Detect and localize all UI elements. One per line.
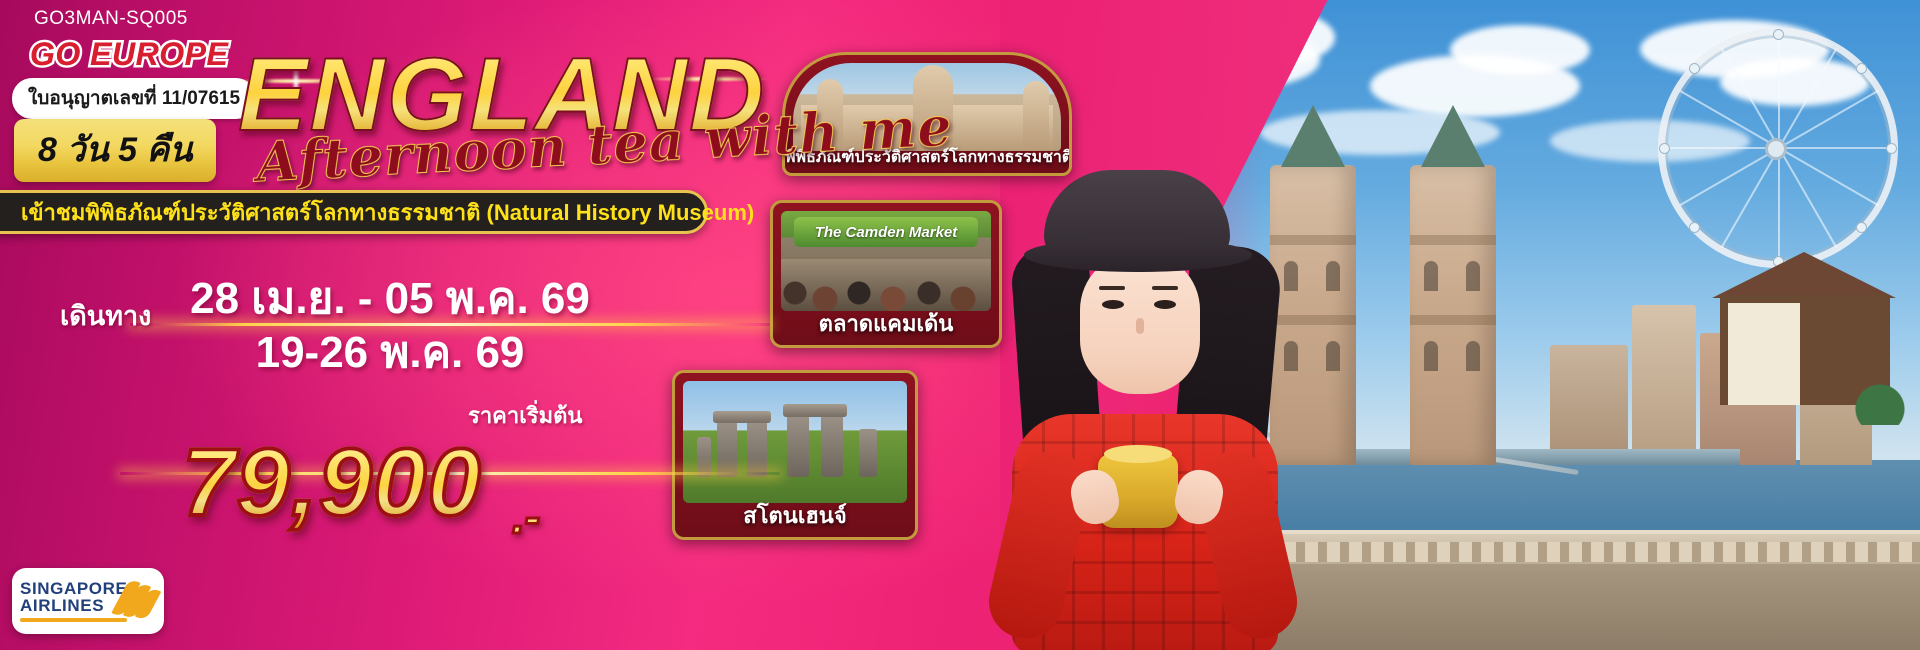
thumbnail-caption: สโตนเฮนจ์ [675,498,915,533]
date-row: 19-26 พ.ค. 69 [180,326,600,380]
airline-logo: SINGAPORE AIRLINES [12,568,164,634]
brand-label: GO EUROPE [30,36,228,73]
highlight-bar: เข้าชมพิพิธภัณฑ์ประวัติศาสตร์โลกทางธรรมช… [0,190,708,234]
highlight-bar-text: เข้าชมพิพิธภัณฑ์ประวัติศาสตร์โลกทางธรรมช… [21,195,754,230]
product-code: GO3MAN-SQ005 [34,8,188,30]
travel-promo-banner: พิพิธภัณฑ์ประวัติศาสตร์โลกทางธรรมชาติ Th… [0,0,1920,650]
thumbnail-caption: ตลาดแคมเด้น [773,306,999,341]
duration-badge: 8 วัน 5 คืน [14,119,216,182]
thumbnail-card-camden-market[interactable]: The Camden Market ตลาดแคมเด้น [770,200,1002,348]
airline-name-line1: SINGAPORE [20,580,127,597]
model-face [1080,252,1200,394]
singapore-airlines-bird-icon [127,578,156,624]
price-value: 79,900 [182,428,482,538]
departure-dates: 28 เม.ย. - 05 พ.ค. 69 19-26 พ.ค. 69 [180,272,600,379]
camden-market-sign: The Camden Market [794,217,979,247]
stonehenge-photo [683,381,907,503]
camden-market-photo: The Camden Market [781,211,991,311]
model-hat-brim [1024,238,1252,272]
airline-name: SINGAPORE AIRLINES [20,580,127,623]
price-label: ราคาเริ่มต้น [468,398,582,433]
date-row: 28 เม.ย. - 05 พ.ค. 69 [180,272,600,326]
thumbnail-card-stonehenge[interactable]: สโตนเฮนจ์ [672,370,918,540]
model-photo [980,170,1310,650]
market-crowd [781,259,991,311]
license-badge: ใบอนุญาตเลขที่ 11/07615 [12,78,256,119]
airline-underline [20,618,127,622]
price-suffix: .- [512,490,540,544]
depart-label: เดินทาง [60,294,151,337]
